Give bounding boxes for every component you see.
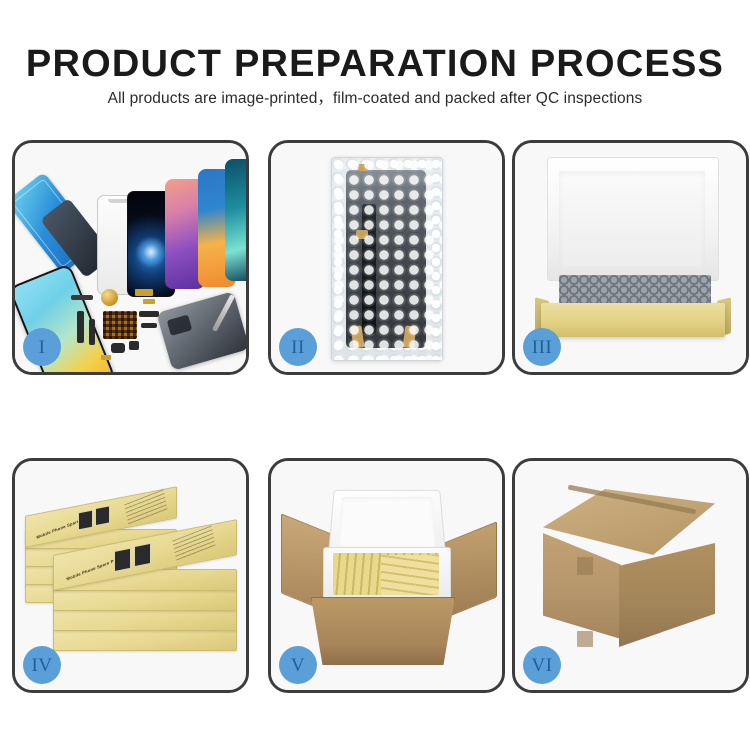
step-badge-4: IV xyxy=(23,646,61,684)
speaker-module-icon xyxy=(101,289,118,306)
page-title: PRODUCT PREPARATION PROCESS xyxy=(0,42,750,86)
stacked-box xyxy=(53,589,237,611)
box-stack: Mobile Phone Spare Parts Mobile Phone Sp… xyxy=(23,479,243,679)
teal-phone-icon xyxy=(225,159,246,281)
product-preparation-infographic: PRODUCT PREPARATION PROCESS All products… xyxy=(0,0,750,750)
foam-sheet-icon xyxy=(559,171,705,267)
screen-flex-strip-icon xyxy=(362,204,376,334)
gold-contact-icon xyxy=(135,289,153,296)
carton-tape-icon xyxy=(577,557,593,575)
flex-cable-icon xyxy=(77,311,84,343)
step-badge-2: II xyxy=(279,328,317,366)
flex-cable-icon xyxy=(141,323,157,328)
chip-icon xyxy=(71,295,93,300)
process-step-panel-5[interactable]: V xyxy=(268,458,505,693)
stacked-box xyxy=(53,609,237,631)
carton-tape-icon xyxy=(577,631,593,647)
small-part-icon xyxy=(129,341,139,350)
page-subtitle: All products are image-printed，film-coat… xyxy=(0,88,750,110)
process-step-panel-1[interactable]: I xyxy=(12,140,249,375)
box-window-icon xyxy=(78,510,93,531)
box-window-icon xyxy=(95,505,110,526)
box-window-icon xyxy=(114,548,131,572)
bubble-wrap-bag-icon xyxy=(331,157,443,361)
carton-body-icon xyxy=(311,597,455,665)
box-window-icon xyxy=(134,543,151,567)
box-text-lines-icon xyxy=(172,525,215,561)
step-badge-5: V xyxy=(279,646,317,684)
carton-right-face-icon xyxy=(619,543,715,647)
stacked-box xyxy=(53,629,237,651)
tape-tab-icon xyxy=(356,230,368,239)
camera-module-icon xyxy=(111,343,125,353)
yellow-box-base-icon xyxy=(541,303,725,337)
carton-left-face-icon xyxy=(543,533,621,639)
gold-contact-icon xyxy=(143,299,155,304)
flex-cable-icon xyxy=(89,319,95,345)
packed-yellow-boxes-icon xyxy=(381,555,439,595)
gold-contact-icon xyxy=(101,355,111,360)
process-step-panel-2[interactable]: II xyxy=(268,140,505,375)
foam-lid-icon xyxy=(328,490,446,556)
tape-tab-icon xyxy=(358,164,368,171)
phone-backcase-icon xyxy=(156,291,246,371)
process-step-panel-4[interactable]: Mobile Phone Spare Parts Mobile Phone Sp… xyxy=(12,458,249,693)
flex-cable-icon xyxy=(139,311,159,317)
process-steps-grid: I II xyxy=(0,135,750,695)
step-badge-3: III xyxy=(523,328,561,366)
box-text-lines-icon xyxy=(124,489,167,525)
step-badge-6: VI xyxy=(523,646,561,684)
process-step-panel-3[interactable]: III xyxy=(512,140,749,375)
connector-grid-icon xyxy=(103,311,137,339)
process-step-panel-6[interactable]: VI xyxy=(512,458,749,693)
step-badge-1: I xyxy=(23,328,61,366)
wrapped-screen-icon xyxy=(346,170,426,348)
